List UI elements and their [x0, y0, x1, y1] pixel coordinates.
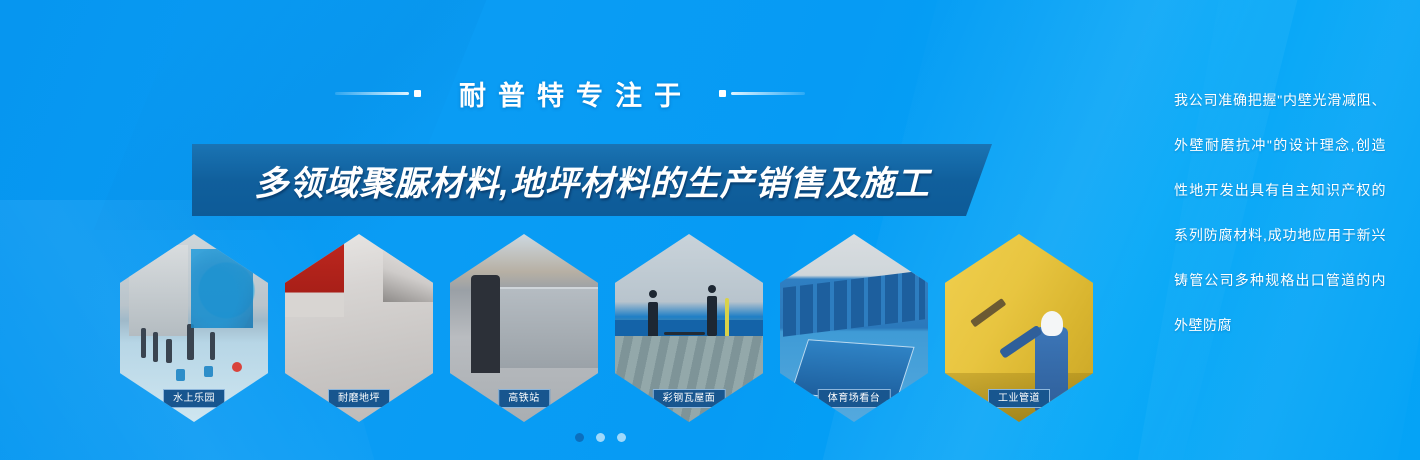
case-label: 耐磨地坪	[328, 389, 390, 409]
case-card-water-park[interactable]: 水上乐园	[120, 234, 268, 422]
hero-banner: 耐普特专注于 多领域聚脲材料,地坪材料的生产销售及施工 我公司准确把握"内壁光滑…	[0, 0, 1420, 460]
pagination-dot-1[interactable]	[575, 433, 584, 442]
carousel-pagination[interactable]	[0, 433, 1200, 442]
case-card-wear-floor[interactable]: 耐磨地坪	[285, 234, 433, 422]
rule-line-icon	[731, 92, 805, 95]
worker-brush-icon	[970, 297, 1007, 327]
eyebrow-text: 耐普特专注于	[447, 74, 693, 113]
case-label: 体育场看台	[818, 389, 891, 409]
case-label: 水上乐园	[163, 389, 225, 409]
pagination-dot-3[interactable]	[617, 433, 626, 442]
case-card-industrial-pipe[interactable]: 工业管道	[945, 234, 1093, 422]
case-label: 工业管道	[988, 389, 1050, 409]
case-card-steel-roof[interactable]: 彩钢瓦屋面	[615, 234, 763, 422]
case-label: 彩钢瓦屋面	[653, 389, 726, 409]
rule-dot-icon	[719, 90, 726, 97]
case-label: 高铁站	[498, 389, 550, 409]
headline-text: 多领域聚脲材料,地坪材料的生产销售及施工	[254, 156, 929, 205]
rule-line-icon	[335, 92, 409, 95]
decorative-rule-right	[719, 90, 805, 97]
case-card-list: 水上乐园 耐磨地坪 高铁站 彩钢瓦屋面	[120, 234, 1120, 426]
side-description-text: 我公司准确把握"内壁光滑减阻、外壁耐磨抗冲"的设计理念,创造性地开发出具有自主知…	[1174, 78, 1386, 348]
case-card-rail-station[interactable]: 高铁站	[450, 234, 598, 422]
rule-dot-icon	[414, 90, 421, 97]
case-card-stadium-stand[interactable]: 体育场看台	[780, 234, 928, 422]
pagination-dot-2[interactable]	[596, 433, 605, 442]
decorative-rule-left	[335, 90, 421, 97]
worker-helmet-icon	[1041, 311, 1063, 337]
eyebrow-headline: 耐普特专注于	[0, 74, 1140, 113]
headline-plaque: 多领域聚脲材料,地坪材料的生产销售及施工	[192, 144, 992, 216]
